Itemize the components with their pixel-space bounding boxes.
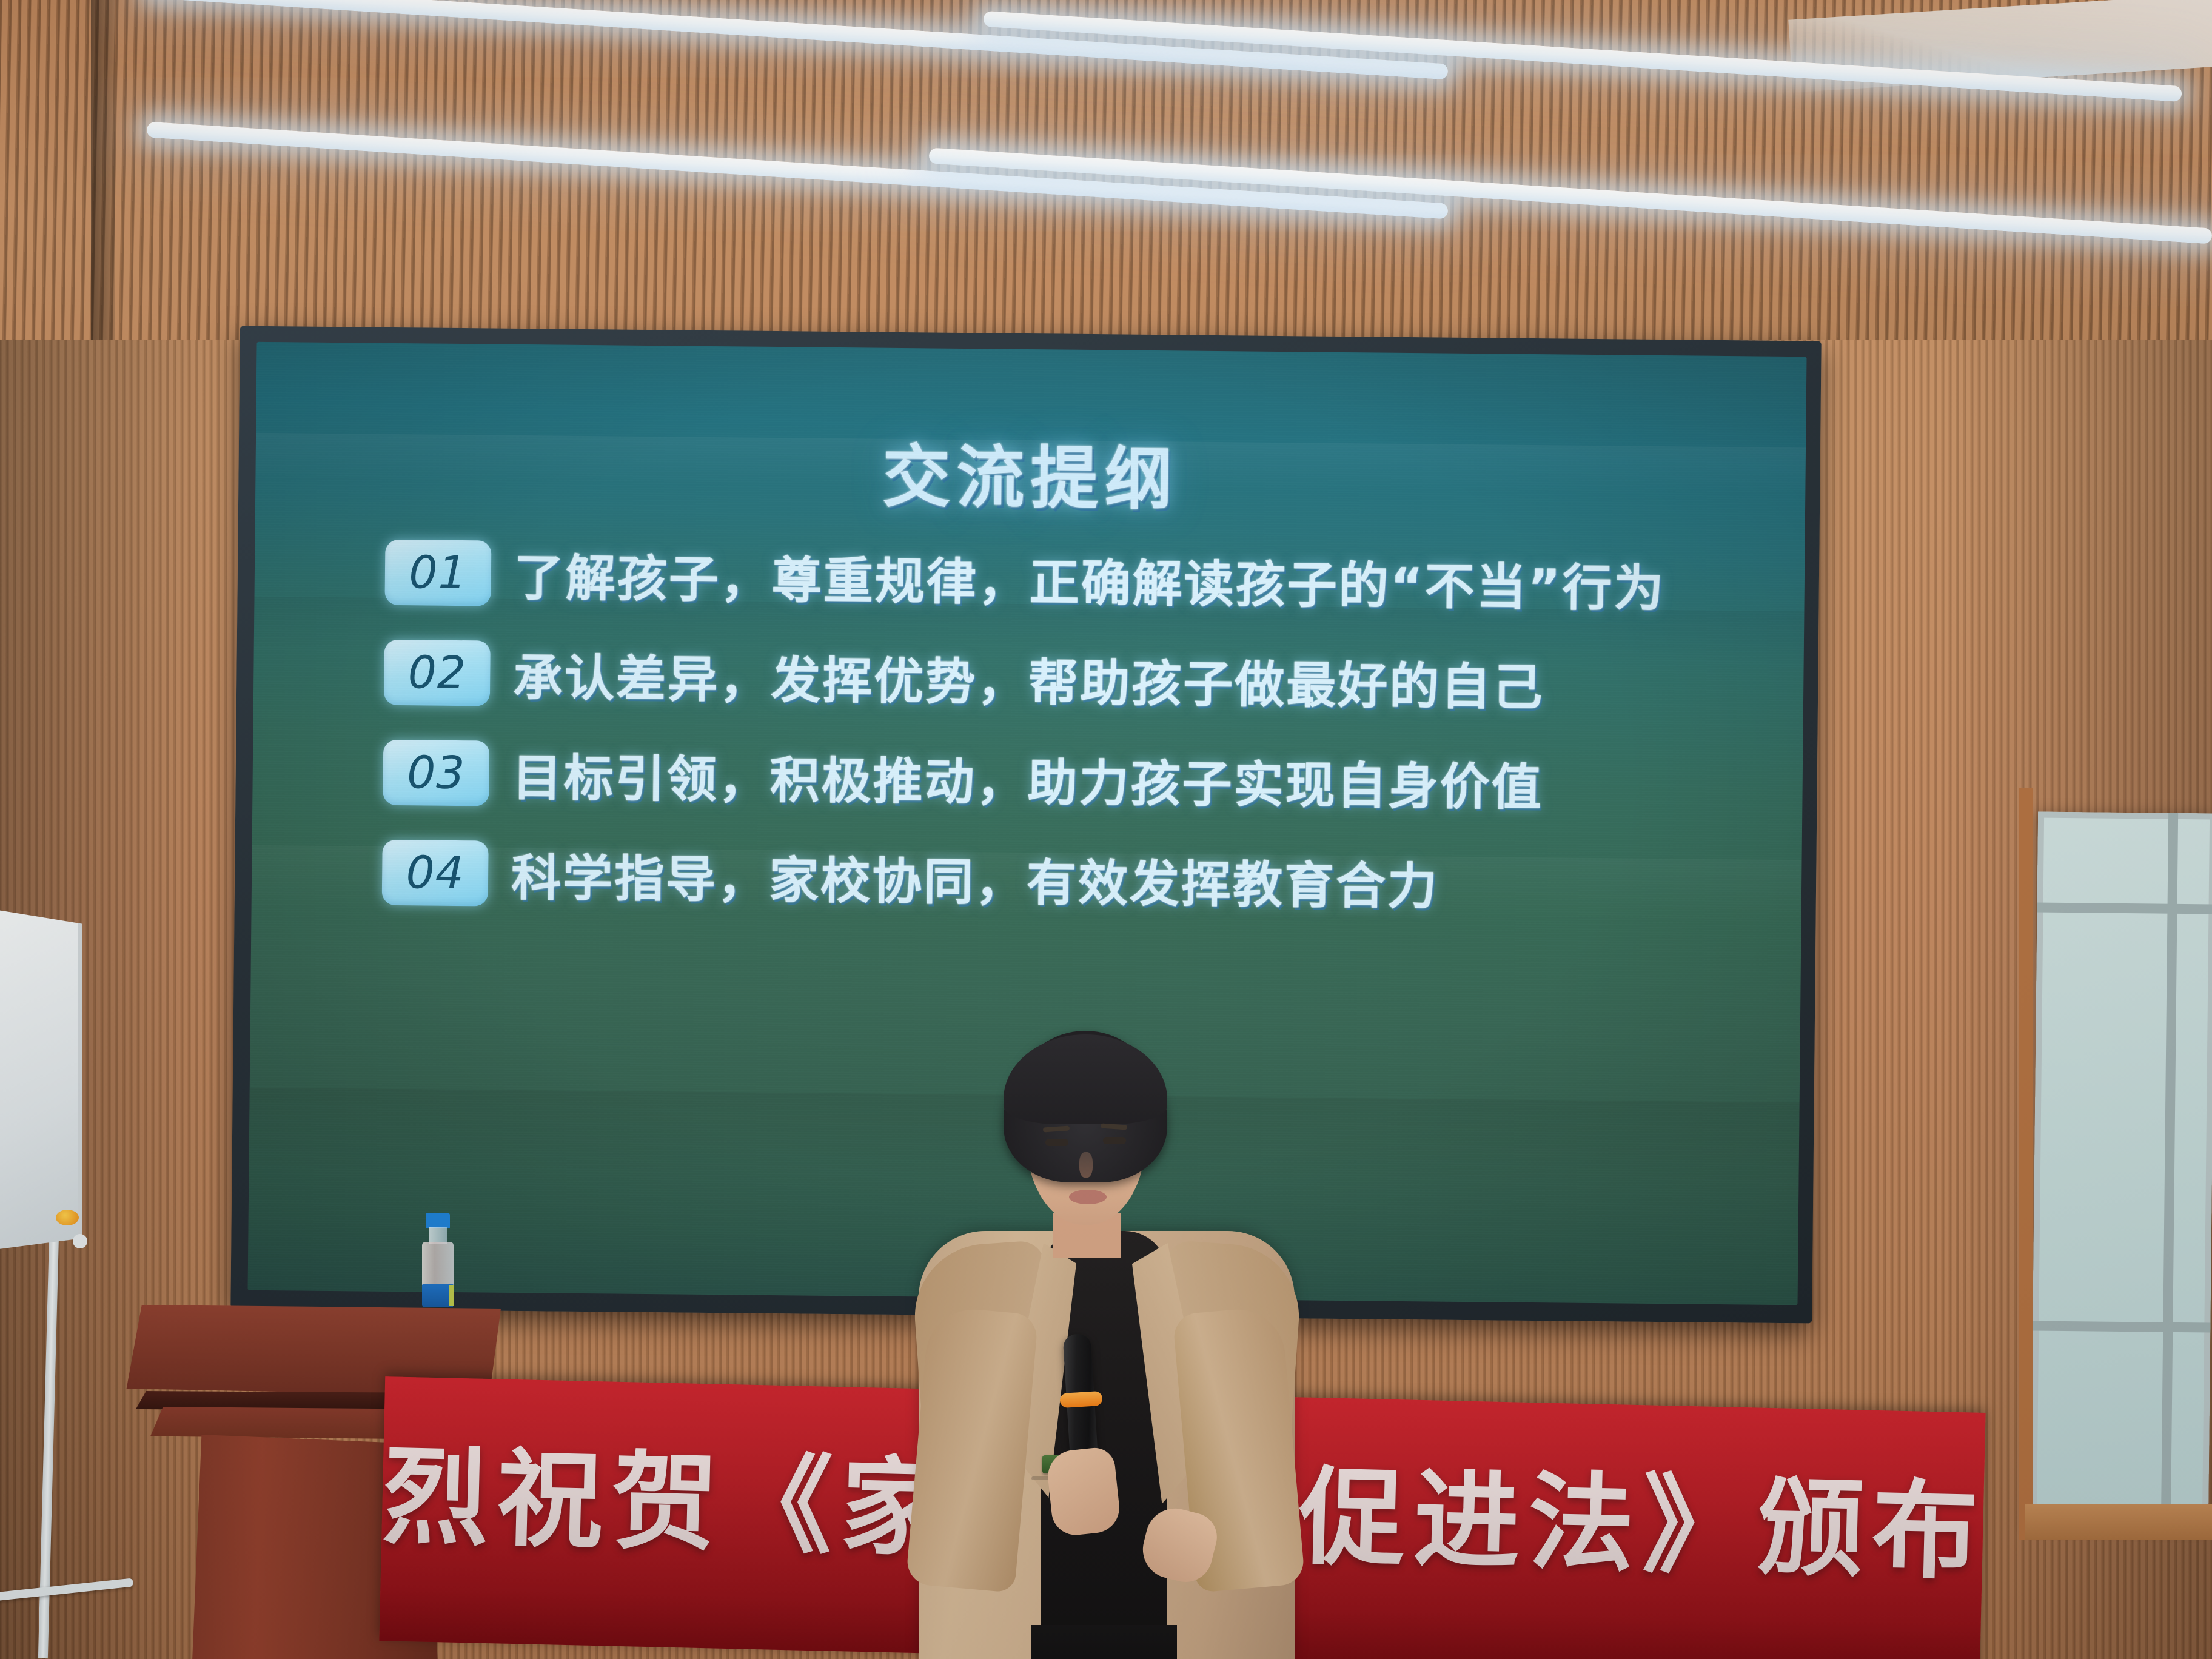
outline-number-badge-01: 01 bbox=[384, 539, 491, 606]
microphone-orange-ring bbox=[1059, 1391, 1102, 1408]
water-bottle bbox=[420, 1213, 456, 1309]
whiteboard-surface bbox=[0, 907, 82, 1252]
bottle-body bbox=[422, 1242, 454, 1290]
speaker-eye-right bbox=[1103, 1137, 1126, 1144]
whiteboard bbox=[0, 907, 109, 1331]
outline-item-01: 01 了解孩子，尊重规律，正确解读孩子的“不当”行为 bbox=[384, 536, 1750, 622]
window-mullion-vertical-1 bbox=[2161, 813, 2178, 1529]
whiteboard-adjust-knob bbox=[73, 1234, 87, 1248]
outline-text-02: 承认差异，发挥优势，帮助孩子做最好的自己 bbox=[513, 637, 1544, 719]
outline-item-02: 02 承认差异，发挥优势，帮助孩子做最好的自己 bbox=[384, 636, 1749, 722]
window-mullion-horizontal-1 bbox=[2037, 902, 2212, 914]
outline-text-03: 目标引领，积极推动，助力孩子实现自身价值 bbox=[512, 737, 1543, 819]
bottle-cap bbox=[426, 1213, 450, 1228]
outline-item-03: 03 目标引领，积极推动，助力孩子实现自身价值 bbox=[383, 736, 1748, 822]
window-mullion-horizontal-2 bbox=[2033, 1321, 2210, 1332]
slide-title: 交流提纲 bbox=[255, 416, 1806, 529]
outline-number-badge-03: 03 bbox=[383, 739, 489, 806]
slide-outline-list: 01 了解孩子，尊重规律，正确解读孩子的“不当”行为 02 承认差异，发挥优势，… bbox=[381, 536, 1750, 950]
whiteboard-base-bar bbox=[0, 1578, 133, 1601]
speaker-mouth bbox=[1069, 1190, 1107, 1204]
wood-slat-ceiling bbox=[0, 0, 2212, 340]
bottle-label-accent bbox=[449, 1285, 454, 1306]
window-sill bbox=[2025, 1504, 2212, 1540]
conference-hall-photo: 交流提纲 01 了解孩子，尊重规律，正确解读孩子的“不当”行为 02 承认差异，… bbox=[0, 0, 2212, 1659]
whiteboard-marker-holder bbox=[56, 1210, 79, 1225]
outline-text-01: 了解孩子，尊重规律，正确解读孩子的“不当”行为 bbox=[514, 537, 1666, 620]
speaker-lower-garment bbox=[1031, 1625, 1177, 1659]
outline-item-04: 04 科学指导，家校协同，有效发挥教育合力 bbox=[382, 836, 1748, 922]
speaker-person bbox=[913, 1031, 1301, 1659]
frosted-glass-window bbox=[2031, 811, 2212, 1529]
speaker-eye-left bbox=[1045, 1139, 1068, 1146]
outline-text-04: 科学指导，家校协同，有效发挥教育合力 bbox=[511, 837, 1439, 919]
outline-number-badge-04: 04 bbox=[382, 839, 489, 906]
outline-number-badge-02: 02 bbox=[384, 639, 491, 706]
ceiling-seam bbox=[91, 0, 115, 340]
speaker-nose bbox=[1079, 1152, 1093, 1178]
speaker-hand-holding-mic bbox=[1045, 1446, 1122, 1538]
speaker-hair-fringe bbox=[1004, 1034, 1167, 1124]
